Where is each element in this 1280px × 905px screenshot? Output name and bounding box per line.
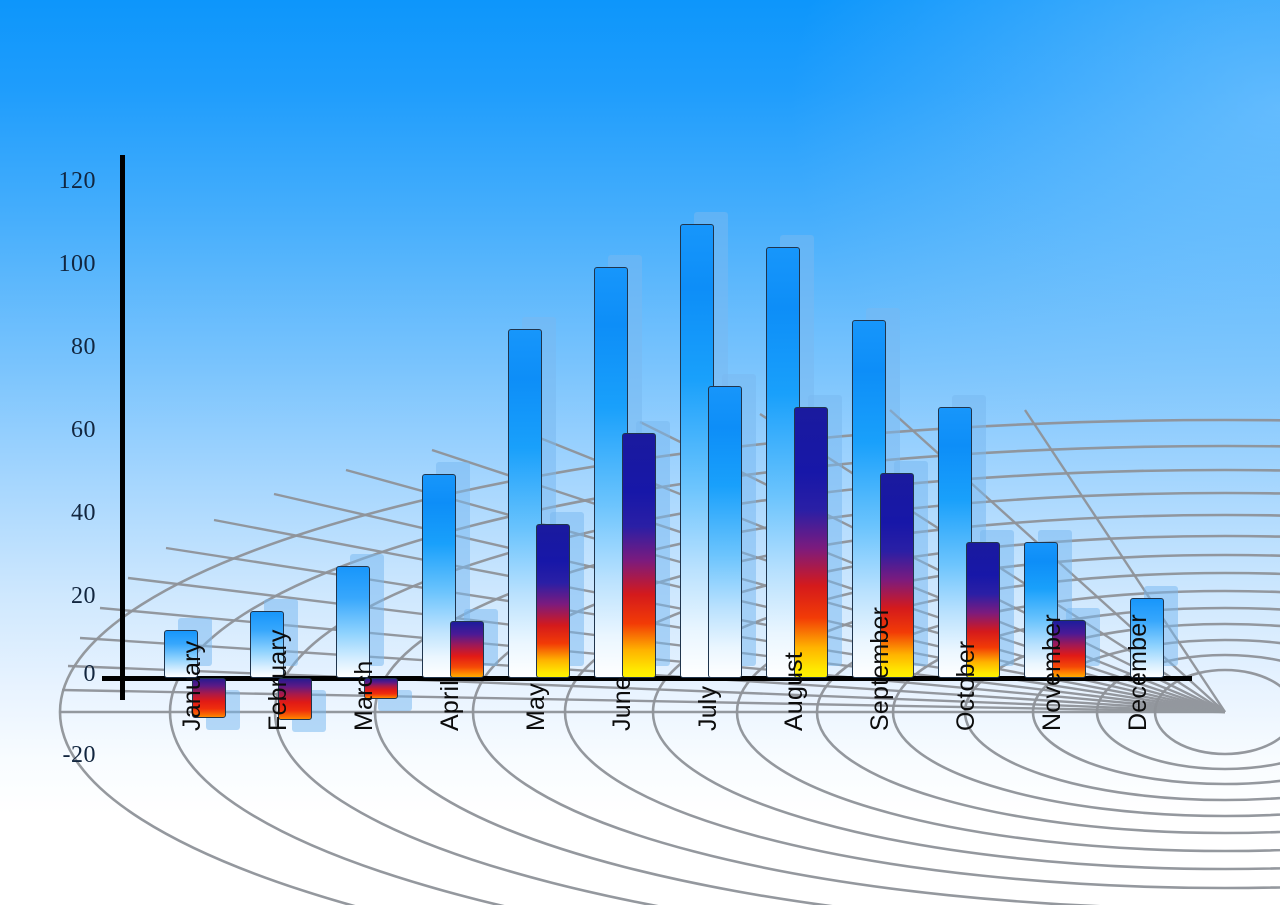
chart-canvas: 120 100 80 60 40 20 0 -20 <box>0 0 1280 905</box>
y-tick-0: 0 <box>34 661 96 688</box>
x-label-january: January <box>178 641 207 731</box>
bar-july-series2[interactable] <box>708 386 742 678</box>
bar-face <box>622 433 656 678</box>
x-label-august: August <box>780 652 809 731</box>
x-label-september: September <box>866 607 895 731</box>
y-tick-neg20: -20 <box>34 742 96 769</box>
y-tick-100: 100 <box>34 251 96 278</box>
x-label-june: June <box>608 676 637 731</box>
bar-may-series2[interactable] <box>536 524 570 678</box>
x-label-november: November <box>1038 614 1067 731</box>
x-label-december: December <box>1124 614 1153 731</box>
bar-face <box>536 524 570 678</box>
y-tick-120: 120 <box>34 168 96 195</box>
bar-april-series2[interactable] <box>450 621 484 678</box>
y-tick-40: 40 <box>34 500 96 527</box>
bar-face <box>708 386 742 678</box>
x-label-may: May <box>522 683 551 731</box>
bar-june-series2[interactable] <box>622 433 656 678</box>
bar-august-series2[interactable] <box>794 407 828 678</box>
x-label-april: April <box>436 680 465 731</box>
bar-face <box>450 621 484 678</box>
x-label-march: March <box>350 661 379 731</box>
x-label-october: October <box>952 641 981 731</box>
y-tick-60: 60 <box>34 417 96 444</box>
bar-face <box>794 407 828 678</box>
y-axis-line <box>120 155 125 700</box>
y-tick-20: 20 <box>34 583 96 610</box>
y-tick-80: 80 <box>34 334 96 361</box>
x-label-february: February <box>264 629 293 731</box>
x-label-july: July <box>694 686 723 731</box>
